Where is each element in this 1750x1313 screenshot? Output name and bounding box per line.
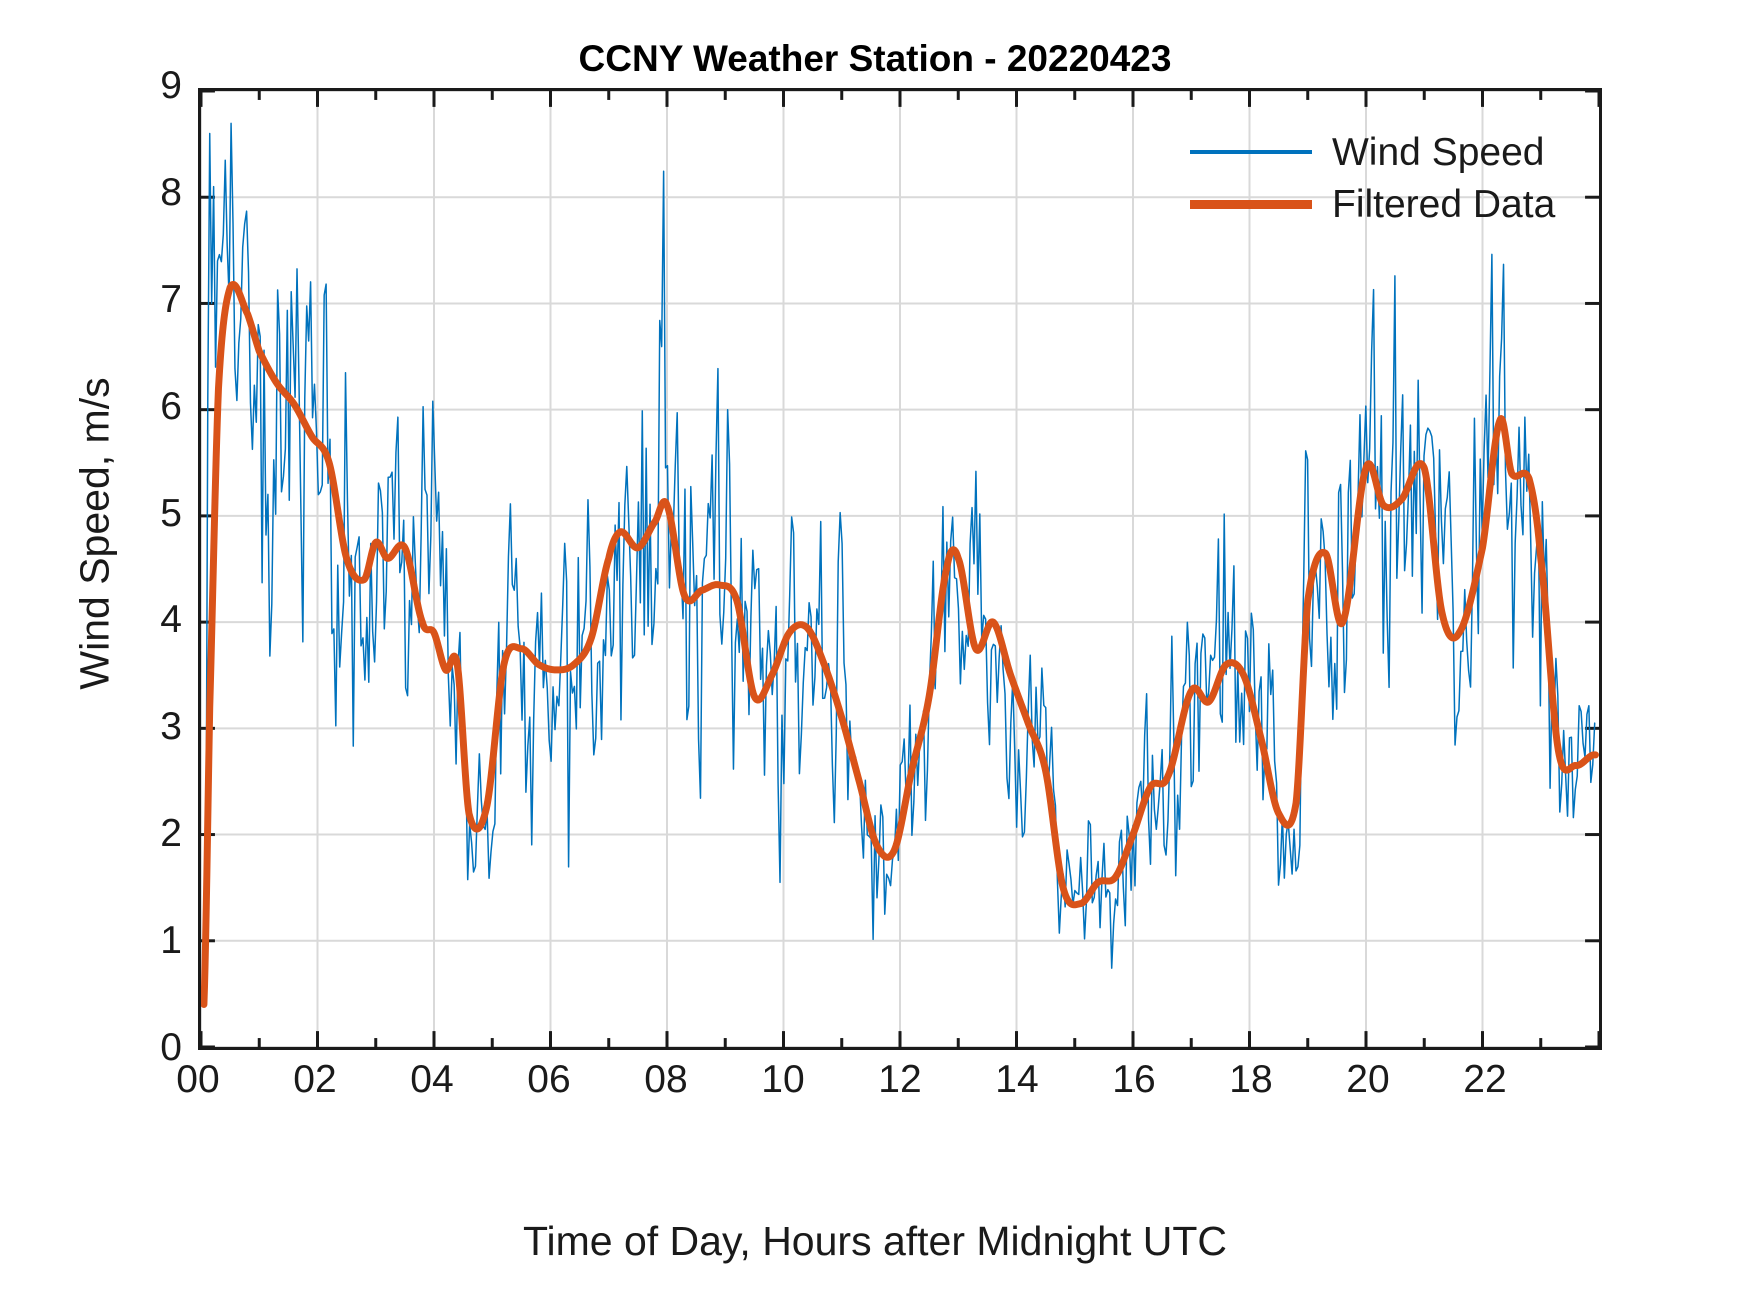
x-tick-label: 04	[377, 1060, 487, 1099]
y-tick-label: 3	[122, 707, 182, 746]
chart-figure: CCNY Weather Station - 20220423 01234567…	[0, 0, 1750, 1313]
chart-title: CCNY Weather Station - 20220423	[0, 38, 1750, 80]
x-tick-label: 14	[962, 1060, 1072, 1099]
x-tick-label: 00	[143, 1060, 253, 1099]
y-axis-label: Wind Speed, m/s	[72, 184, 119, 884]
y-tick-label: 1	[122, 921, 182, 960]
legend-swatch-wind-speed-icon	[1190, 150, 1312, 154]
x-tick-label: 08	[611, 1060, 721, 1099]
x-axis-label: Time of Day, Hours after Midnight UTC	[0, 1218, 1750, 1265]
legend-label-filtered-data: Filtered Data	[1332, 185, 1555, 224]
x-tick-label: 10	[728, 1060, 838, 1099]
x-tick-label: 22	[1430, 1060, 1540, 1099]
y-tick-label: 4	[122, 600, 182, 639]
plot-area	[198, 88, 1602, 1050]
x-tick-label: 20	[1313, 1060, 1423, 1099]
y-tick-label: 6	[122, 387, 182, 426]
y-tick-label: 9	[122, 66, 182, 105]
chart-legend: Wind Speed Filtered Data	[1190, 126, 1590, 230]
plot-canvas	[201, 91, 1599, 1047]
legend-swatch-filtered-data-icon	[1190, 200, 1312, 209]
legend-item-filtered-data: Filtered Data	[1190, 178, 1590, 230]
y-tick-label: 7	[122, 280, 182, 319]
legend-item-wind-speed: Wind Speed	[1190, 126, 1590, 178]
y-tick-label: 2	[122, 814, 182, 853]
legend-label-wind-speed: Wind Speed	[1332, 133, 1544, 172]
y-tick-label: 5	[122, 494, 182, 533]
y-tick-label: 8	[122, 173, 182, 212]
x-tick-label: 18	[1196, 1060, 1306, 1099]
x-tick-label: 02	[260, 1060, 370, 1099]
x-tick-label: 06	[494, 1060, 604, 1099]
x-tick-label: 16	[1079, 1060, 1189, 1099]
x-tick-label: 12	[845, 1060, 955, 1099]
